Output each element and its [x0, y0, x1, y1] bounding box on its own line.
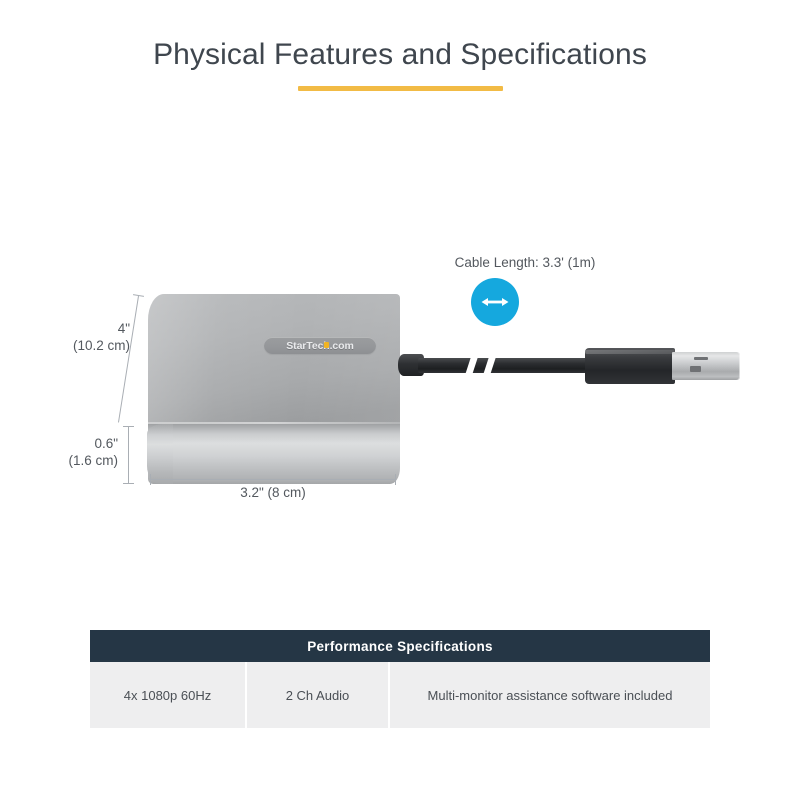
height-metric: (10.2 cm)	[40, 337, 130, 354]
spec-table-header: Performance Specifications	[90, 630, 710, 662]
page-header: Physical Features and Specifications	[0, 36, 800, 91]
height-dimension-label: 4" (10.2 cm)	[40, 320, 130, 354]
performance-specifications-table: Performance Specifications 4x 1080p 60Hz…	[90, 630, 710, 728]
thickness-dimension-cap-bottom	[123, 483, 134, 484]
thickness-metric: (1.6 cm)	[28, 452, 118, 469]
product-device-body: StarTech.com	[148, 294, 400, 484]
height-dimension-line	[118, 296, 139, 423]
thickness-imperial: 0.6"	[28, 435, 118, 452]
cable-length-label: Cable Length: 3.3' (1m)	[400, 255, 650, 270]
spec-cell-resolution: 4x 1080p 60Hz	[90, 662, 245, 728]
brand-logo-badge: StarTech.com	[264, 337, 376, 354]
usb-connector-highlight	[585, 350, 675, 354]
spec-cell-audio: 2 Ch Audio	[245, 662, 388, 728]
product-illustration: 4" (10.2 cm) 0.6" (1.6 cm) StarTech.com …	[0, 230, 800, 530]
thickness-dimension-label: 0.6" (1.6 cm)	[28, 435, 118, 469]
spec-table-row: 4x 1080p 60Hz 2 Ch Audio Multi-monitor a…	[90, 662, 710, 728]
device-front-face	[148, 424, 400, 484]
usb-connector-slot-top	[694, 357, 708, 360]
page-title: Physical Features and Specifications	[0, 36, 800, 74]
spec-cell-software: Multi-monitor assistance software includ…	[388, 662, 710, 728]
title-accent-underline	[298, 86, 503, 91]
width-dimension-line	[150, 479, 395, 480]
thickness-dimension-line	[128, 426, 129, 484]
width-dimension-label: 3.2" (8 cm)	[150, 485, 396, 500]
double-arrow-icon	[471, 278, 519, 326]
brand-logo-text: StarTech.com	[286, 340, 353, 352]
device-top-sheen	[148, 294, 400, 434]
width-dimension-cap-right	[395, 474, 396, 485]
usb-connector-slot-bottom	[690, 366, 701, 372]
brand-logo-accent-icon	[324, 342, 329, 348]
height-imperial: 4"	[40, 320, 130, 337]
usb-cable	[418, 358, 588, 373]
